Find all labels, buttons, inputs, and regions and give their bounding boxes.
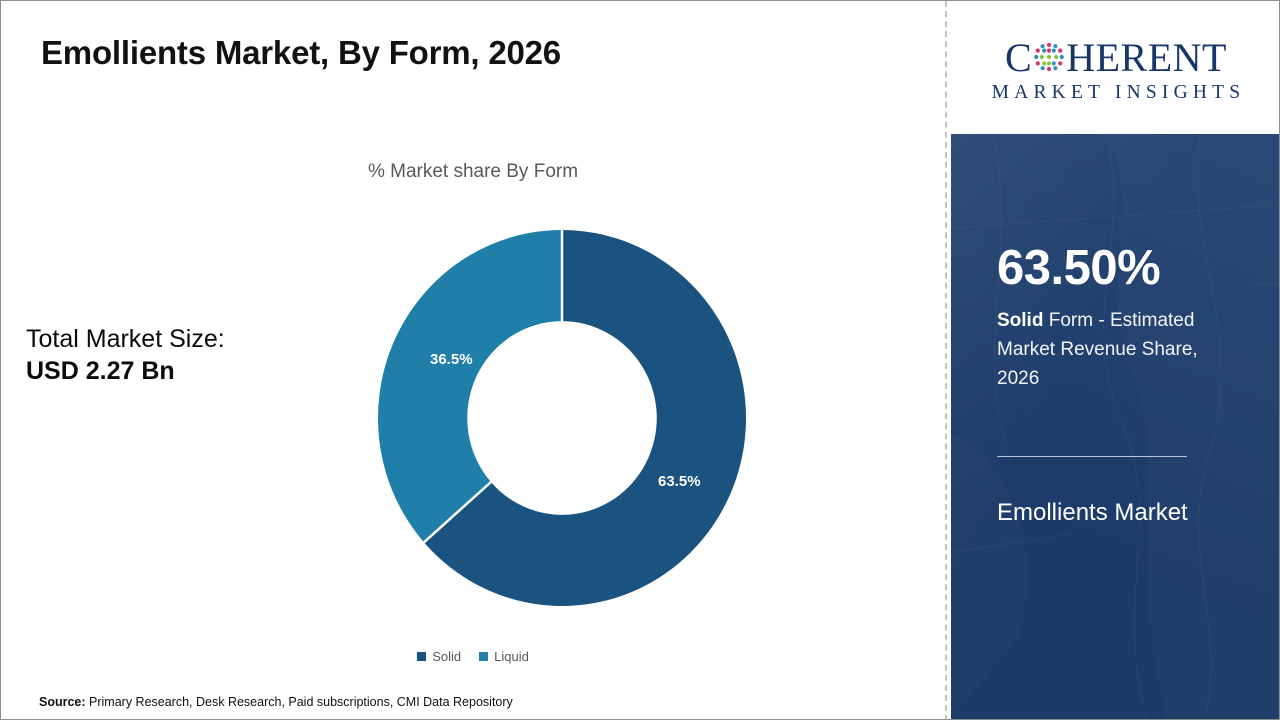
chart-legend: Solid Liquid — [1, 649, 945, 664]
total-market-size-value: USD 2.27 Bn — [26, 355, 225, 387]
left-content-pane: Emollients Market, By Form, 2026 % Marke… — [1, 1, 945, 720]
highlight-percent: 63.50% — [997, 244, 1160, 293]
donut-slice-liquid[interactable] — [378, 230, 562, 542]
page-title: Emollients Market, By Form, 2026 — [41, 34, 561, 72]
source-prefix: Source: — [39, 695, 86, 709]
brand-name-part1: C — [1005, 38, 1032, 78]
brand-logo-wordmark: C — [1005, 35, 1227, 81]
highlight-description: Solid Form - Estimated Market Revenue Sh… — [997, 306, 1229, 393]
total-market-size-block: Total Market Size: USD 2.27 Bn — [26, 323, 225, 387]
donut-label-liquid: 36.5% — [430, 351, 473, 368]
legend-label-liquid: Liquid — [494, 649, 529, 664]
panel-map-texture — [951, 134, 1280, 719]
highlight-market-name: Emollients Market — [997, 499, 1188, 528]
highlight-panel: 63.50% Solid Form - Estimated Market Rev… — [951, 134, 1280, 719]
legend-swatch-liquid — [479, 652, 488, 661]
donut-chart-svg: 36.5% 63.5% — [378, 230, 746, 606]
legend-swatch-solid — [417, 652, 426, 661]
legend-item-solid[interactable]: Solid — [417, 649, 461, 664]
total-market-size-label: Total Market Size: — [26, 323, 225, 355]
brand-name-part2: HERENT — [1066, 38, 1227, 78]
highlight-description-bold: Solid — [997, 310, 1043, 331]
right-sidebar: C — [951, 1, 1280, 720]
donut-label-solid: 63.5% — [658, 473, 701, 490]
legend-label-solid: Solid — [432, 649, 461, 664]
brand-logo: C — [951, 2, 1280, 135]
legend-item-liquid[interactable]: Liquid — [479, 649, 529, 664]
highlight-divider-rule — [997, 456, 1187, 457]
brand-tagline: MARKET INSIGHTS — [987, 83, 1246, 103]
chart-subtitle: % Market share By Form — [1, 161, 945, 183]
vertical-dashed-divider — [945, 1, 947, 720]
source-text: Primary Research, Desk Research, Paid su… — [86, 695, 513, 709]
donut-chart: 36.5% 63.5% — [378, 230, 746, 606]
globe-dots-icon — [1033, 41, 1065, 73]
infographic-canvas: Emollients Market, By Form, 2026 % Marke… — [0, 0, 1280, 720]
source-footnote: Source: Primary Research, Desk Research,… — [39, 695, 513, 709]
